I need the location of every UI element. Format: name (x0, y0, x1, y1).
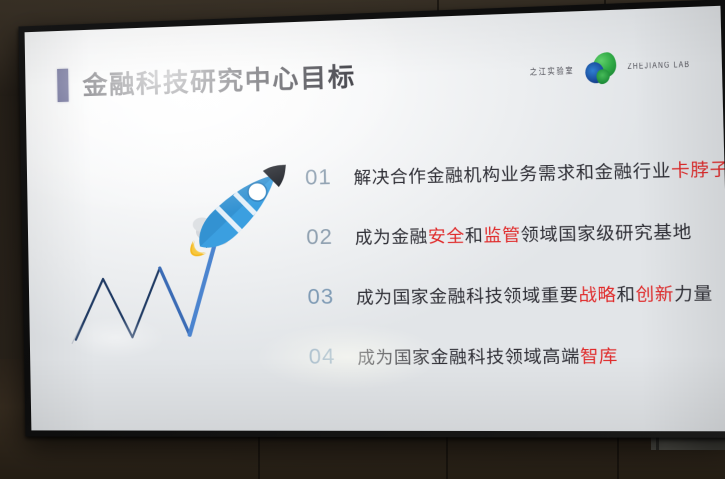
item-text: 解决合作金融机构业务需求和金融行业卡脖子难题 (353, 154, 725, 189)
objective-list: 01 解决合作金融机构业务需求和金融行业卡脖子难题 02 成为金融安全和监管领域… (305, 154, 725, 404)
text-segment: 解决合作金融机构业务需求和金融行业 (353, 162, 671, 188)
highlighted-segment: 安全 (428, 227, 465, 246)
display-screen[interactable]: 金融科技研究中心目标 之江实验室 ZHEJIANG LAB (25, 6, 725, 432)
item-number: 04 (309, 345, 343, 370)
text-segment: 力量 (674, 285, 713, 305)
text-segment: 成为国家金融科技领域重要 (356, 286, 579, 307)
highlighted-segment: 监管 (483, 226, 521, 245)
slide-title-row: 金融科技研究中心目标 (57, 57, 356, 103)
list-item[interactable]: 03 成为国家金融科技领域重要战略和创新力量 (307, 278, 725, 344)
text-segment: 和 (465, 227, 484, 246)
text-segment: 和 (616, 285, 636, 304)
highlighted-segment: 创新 (635, 285, 674, 305)
text-segment: 成为金融 (355, 228, 428, 248)
title-accent-bar (57, 68, 69, 101)
item-number: 02 (306, 225, 340, 250)
item-number: 03 (307, 285, 341, 310)
item-number: 01 (305, 165, 339, 190)
presentation-slide: 金融科技研究中心目标 之江实验室 ZHEJIANG LAB (25, 6, 725, 432)
item-text: 成为金融安全和监管领域国家级研究基地 (355, 218, 693, 249)
text-segment: 领域国家级研究基地 (521, 223, 693, 245)
list-item[interactable]: 02 成为金融安全和监管领域国家级研究基地 (306, 216, 725, 284)
logo-group: 之江实验室 ZHEJIANG LAB (529, 49, 690, 86)
org-name-en: ZHEJIANG LAB (627, 61, 690, 71)
item-text: 成为国家金融科技领域重要战略和创新力量 (356, 279, 713, 308)
text-segment: 成为国家金融科技领域高端 (357, 347, 580, 367)
item-text: 成为国家金融科技领域高端智库 (357, 342, 618, 369)
highlighted-segment: 战略 (578, 286, 616, 305)
list-item[interactable]: 04 成为国家金融科技领域高端智库 (308, 341, 725, 404)
rocket-icon (180, 155, 297, 266)
zhejiang-lab-leaf-globe-icon (584, 52, 618, 85)
page-title: 金融科技研究中心目标 (82, 57, 356, 103)
list-item[interactable]: 01 解决合作金融机构业务需求和金融行业卡脖子难题 (305, 154, 725, 225)
rocket-artwork-svg (67, 155, 307, 367)
wall-display[interactable]: 金融科技研究中心目标 之江实验室 ZHEJIANG LAB (19, 0, 725, 438)
highlighted-segment: 卡脖子 (671, 160, 725, 181)
rocket-growth-artwork (67, 155, 307, 367)
highlighted-segment: 智库 (580, 347, 618, 366)
org-name-cn: 之江实验室 (530, 63, 575, 78)
